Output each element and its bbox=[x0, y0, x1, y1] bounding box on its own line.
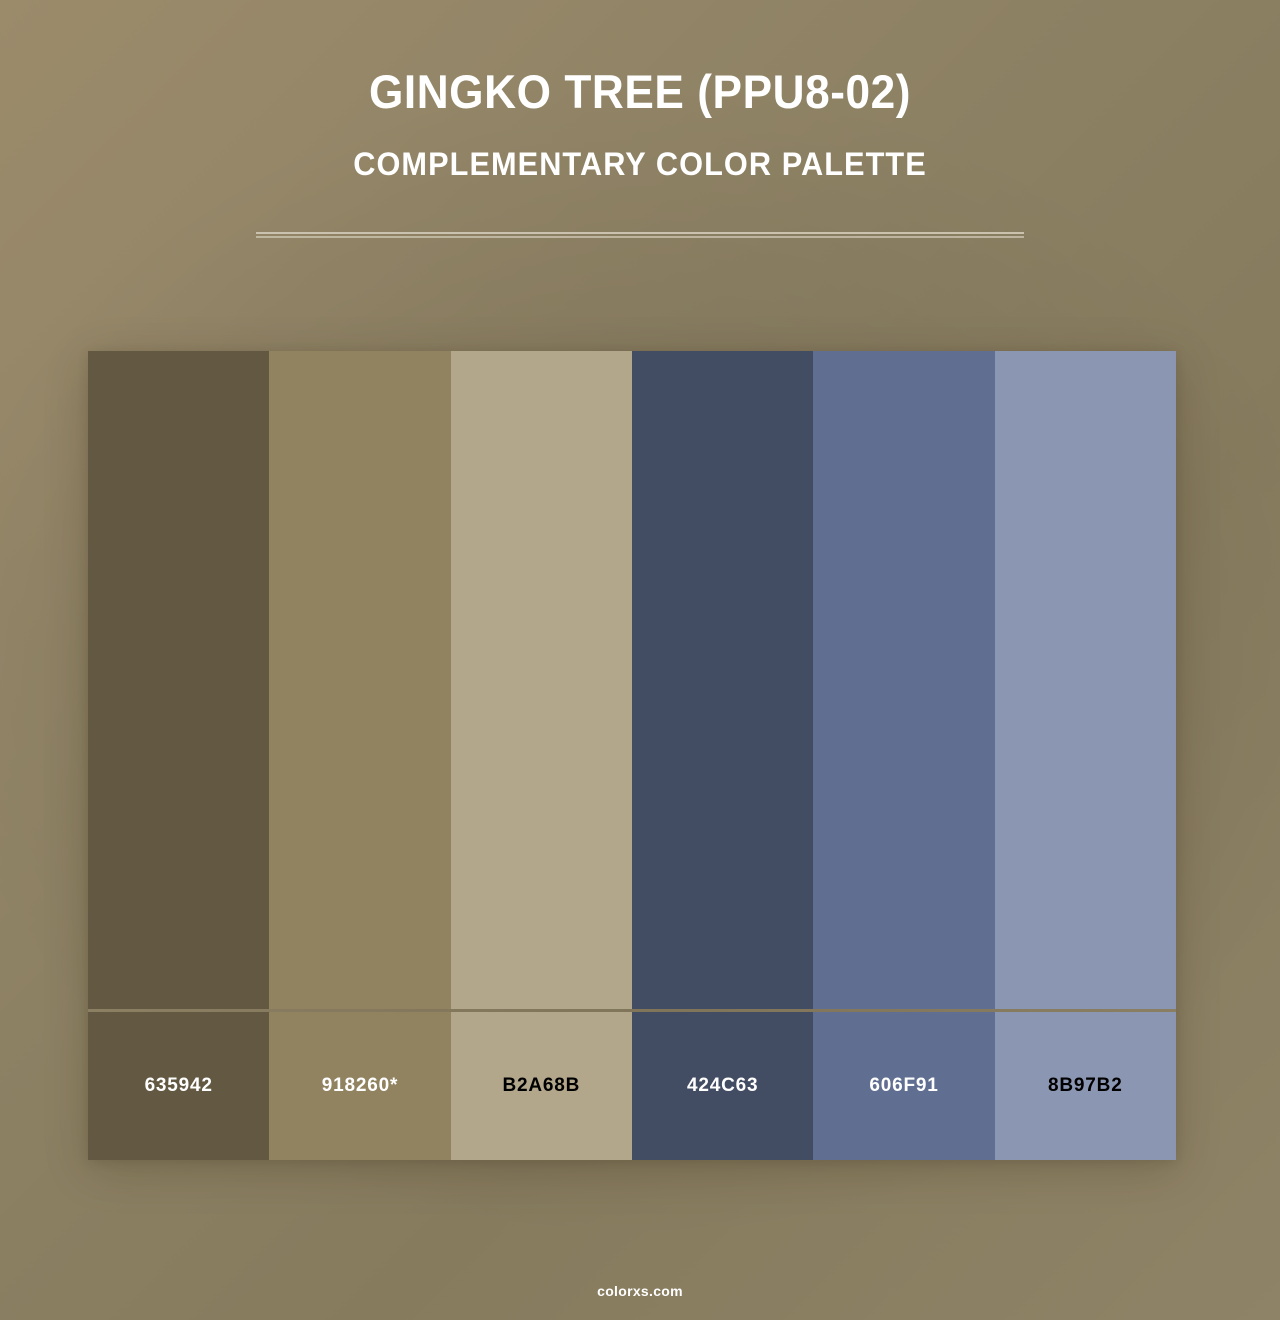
color-hex-label: 424C63 bbox=[687, 1075, 758, 1097]
page-title: GINGKO TREE (PPU8-02) bbox=[38, 68, 1241, 115]
color-hex-label: 8B97B2 bbox=[1048, 1075, 1123, 1097]
palette-page: GINGKO TREE (PPU8-02) COMPLEMENTARY COLO… bbox=[0, 0, 1280, 1320]
color-label-cell-3[interactable]: B2A68B bbox=[451, 1012, 632, 1160]
color-label-cell-1[interactable]: 635942 bbox=[88, 1012, 269, 1160]
color-hex-label: 606F91 bbox=[869, 1075, 938, 1097]
footer: colorxs.com bbox=[0, 1283, 1280, 1301]
divider-line-bottom bbox=[256, 236, 1024, 238]
color-swatch-6[interactable] bbox=[995, 351, 1176, 1009]
color-hex-label: B2A68B bbox=[502, 1075, 580, 1097]
color-label-cell-2[interactable]: 918260* bbox=[269, 1012, 450, 1160]
site-attribution: colorxs.com bbox=[597, 1283, 683, 1299]
color-swatch-1[interactable] bbox=[88, 351, 269, 1009]
color-label-cell-5[interactable]: 606F91 bbox=[813, 1012, 994, 1160]
title-divider bbox=[256, 232, 1024, 238]
color-label-cell-4[interactable]: 424C63 bbox=[632, 1012, 813, 1160]
color-hex-label: 918260* bbox=[322, 1075, 398, 1097]
color-palette: 635942 918260* B2A68B 424C63 606F91 8B97… bbox=[88, 351, 1176, 1160]
color-swatch-5[interactable] bbox=[813, 351, 994, 1009]
swatch-row bbox=[88, 351, 1176, 1009]
color-swatch-4[interactable] bbox=[632, 351, 813, 1009]
color-hex-label: 635942 bbox=[145, 1075, 213, 1097]
color-swatch-3[interactable] bbox=[451, 351, 632, 1009]
page-subtitle: COMPLEMENTARY COLOR PALETTE bbox=[26, 115, 1255, 180]
color-swatch-2[interactable] bbox=[269, 351, 450, 1009]
color-label-cell-6[interactable]: 8B97B2 bbox=[995, 1012, 1176, 1160]
header: GINGKO TREE (PPU8-02) COMPLEMENTARY COLO… bbox=[0, 0, 1280, 180]
label-row: 635942 918260* B2A68B 424C63 606F91 8B97… bbox=[88, 1012, 1176, 1160]
divider-line-top bbox=[256, 232, 1024, 234]
